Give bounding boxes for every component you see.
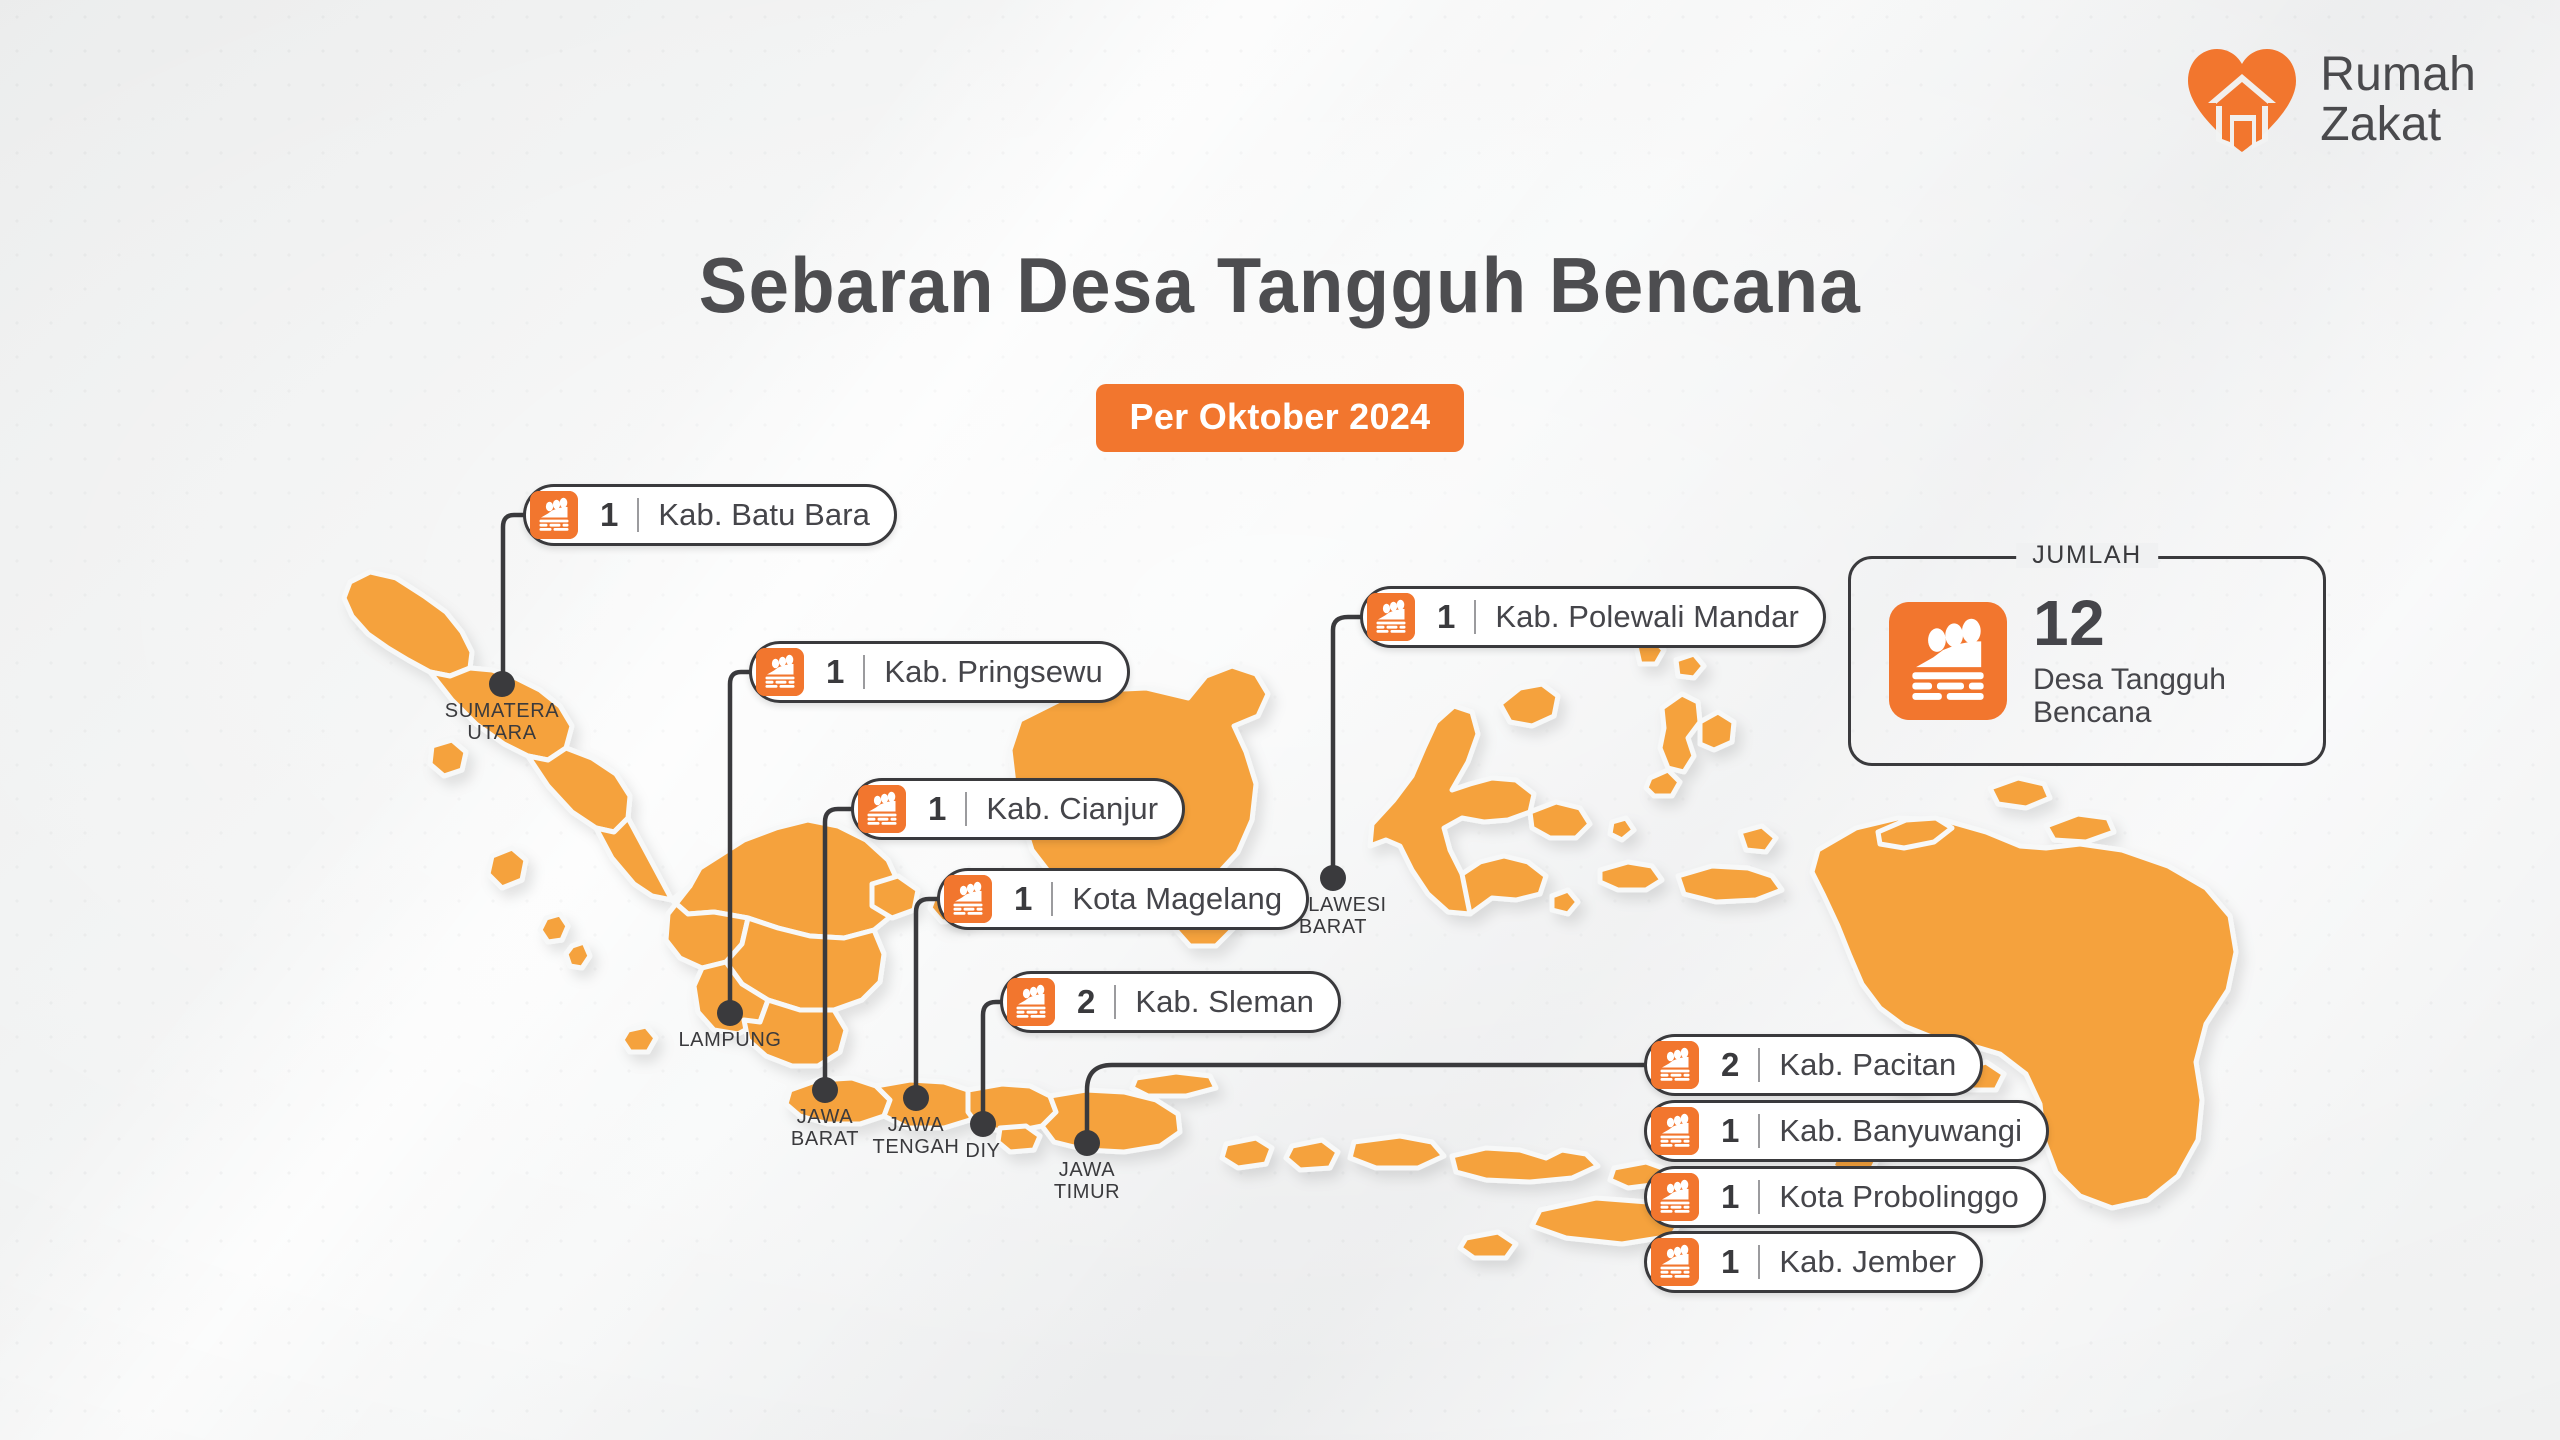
brand-name: Rumah Zakat — [2320, 50, 2476, 150]
marker-pill-pringsewu[interactable]: 1 Kab. Pringsewu — [749, 641, 1130, 703]
village-people-icon — [1651, 1041, 1699, 1089]
marker-place-name: Kab. Pringsewu — [884, 656, 1103, 687]
marker-pill-jember[interactable]: 1 Kab. Jember — [1644, 1231, 1983, 1293]
marker-count: 2 — [1721, 1048, 1739, 1081]
province-label-jawa-barat: JAWA BARAT — [791, 1106, 859, 1151]
marker-pill-cianjur[interactable]: 1 Kab. Cianjur — [851, 778, 1185, 840]
province-dot-sumatera-utara — [489, 671, 515, 697]
marker-place-name: Kab. Jember — [1779, 1246, 1956, 1277]
village-people-icon — [530, 491, 578, 539]
marker-count: 1 — [1721, 1180, 1739, 1213]
marker-place-name: Kota Magelang — [1072, 883, 1282, 914]
marker-separator — [1758, 1180, 1760, 1214]
summary-box: JUMLAH 12 Desa Tanggu — [1848, 556, 2326, 766]
province-dot-jawa-barat — [812, 1077, 838, 1103]
marker-separator — [1474, 600, 1476, 634]
summary-count: 12 — [2033, 592, 2226, 655]
province-label-jawa-timur: JAWA TIMUR — [1054, 1159, 1120, 1204]
village-people-icon — [1889, 602, 2007, 720]
marker-pill-polewali-mandar[interactable]: 1 Kab. Polewali Mandar — [1360, 586, 1826, 648]
summary-content: 12 Desa Tangguh Bencana — [1851, 559, 2323, 763]
marker-place-name: Kab. Batu Bara — [658, 499, 870, 530]
marker-count: 1 — [1721, 1245, 1739, 1278]
province-dot-sulawesi-barat — [1320, 865, 1346, 891]
marker-place-name: Kab. Pacitan — [1779, 1049, 1956, 1080]
village-people-icon — [858, 785, 906, 833]
province-label-jawa-tengah: JAWA TENGAH — [873, 1114, 960, 1159]
marker-separator — [1758, 1245, 1760, 1279]
village-people-icon — [1007, 978, 1055, 1026]
village-people-icon — [944, 875, 992, 923]
marker-place-name: Kota Probolinggo — [1779, 1181, 2018, 1212]
marker-pill-kota-probolinggo[interactable]: 1 Kota Probolinggo — [1644, 1166, 2046, 1228]
marker-count: 1 — [928, 792, 946, 825]
marker-count: 1 — [826, 655, 844, 688]
marker-separator — [863, 655, 865, 689]
marker-place-name: Kab. Banyuwangi — [1779, 1115, 2022, 1146]
village-people-icon — [1367, 593, 1415, 641]
province-dot-jawa-tengah — [903, 1085, 929, 1111]
marker-count: 1 — [600, 498, 618, 531]
marker-place-name: Kab. Sleman — [1135, 986, 1314, 1017]
brand-logo: Rumah Zakat — [2184, 46, 2476, 154]
marker-separator — [1051, 882, 1053, 916]
marker-count: 1 — [1721, 1114, 1739, 1147]
marker-pill-banyuwangi[interactable]: 1 Kab. Banyuwangi — [1644, 1100, 2049, 1162]
page-title: Sebaran Desa Tangguh Bencana — [90, 240, 2471, 331]
infographic-canvas: Rumah Zakat Sebaran Desa Tangguh Bencana… — [0, 0, 2560, 1440]
summary-text: 12 Desa Tangguh Bencana — [2033, 592, 2226, 730]
heart-house-icon — [2184, 46, 2300, 154]
province-label-sumatera-utara: SUMATERA UTARA — [445, 700, 559, 745]
province-label-lampung: LAMPUNG — [678, 1029, 781, 1051]
marker-count: 1 — [1014, 882, 1032, 915]
marker-separator — [965, 792, 967, 826]
marker-place-name: Kab. Cianjur — [986, 793, 1158, 824]
village-people-icon — [756, 648, 804, 696]
marker-count: 1 — [1437, 600, 1455, 633]
period-badge: Per Oktober 2024 — [1096, 384, 1465, 452]
village-people-icon — [1651, 1107, 1699, 1155]
marker-separator — [1114, 985, 1116, 1019]
marker-pill-batu-bara[interactable]: 1 Kab. Batu Bara — [523, 484, 897, 546]
summary-caption: Desa Tangguh Bencana — [2033, 663, 2226, 730]
province-dot-lampung — [717, 1000, 743, 1026]
province-label-diy: DIY — [965, 1140, 1000, 1162]
village-people-icon — [1651, 1173, 1699, 1221]
marker-pill-sleman[interactable]: 2 Kab. Sleman — [1000, 971, 1341, 1033]
marker-place-name: Kab. Polewali Mandar — [1495, 601, 1799, 632]
village-people-icon — [1651, 1238, 1699, 1286]
marker-pill-kota-magelang[interactable]: 1 Kota Magelang — [937, 868, 1309, 930]
marker-pill-pacitan[interactable]: 2 Kab. Pacitan — [1644, 1034, 1983, 1096]
marker-count: 2 — [1077, 985, 1095, 1018]
period-badge-wrap: Per Oktober 2024 — [0, 384, 2560, 452]
province-dot-jawa-timur — [1074, 1130, 1100, 1156]
province-dot-diy — [970, 1111, 996, 1137]
marker-separator — [1758, 1048, 1760, 1082]
marker-separator — [637, 498, 639, 532]
marker-separator — [1758, 1114, 1760, 1148]
